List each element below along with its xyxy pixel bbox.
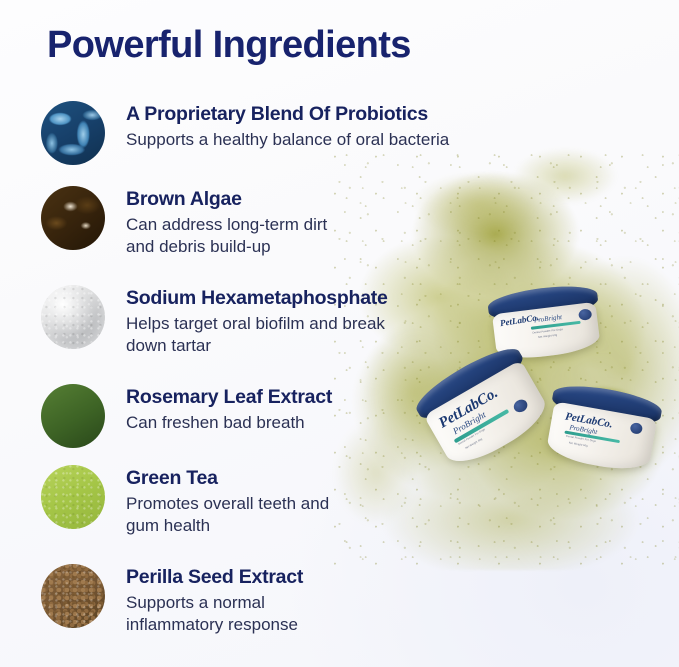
brown-algae-swatch-icon [41, 186, 105, 250]
ingredient-description: Supports a normal inflammatory response [126, 592, 303, 637]
ingredient-name: Brown Algae [126, 189, 327, 211]
ingredient-text-block: Brown Algae Can address long-term dirt a… [126, 184, 327, 259]
powerful-ingredients-poster: Powerful Ingredients A Proprietary Blend… [0, 0, 679, 667]
ingredient-text-block: Perilla Seed Extract Supports a normal i… [126, 562, 303, 637]
ingredient-text-block: Green Tea Promotes overall teeth and gum… [126, 463, 329, 538]
ingredient-text-block: A Proprietary Blend Of Probiotics Suppor… [126, 99, 449, 151]
product-jar-right: PetLabCo. ProBright Dental Powder For Do… [536, 379, 667, 486]
ingredient-name: Green Tea [126, 468, 329, 490]
ingredient-name: A Proprietary Blend Of Probiotics [126, 104, 449, 126]
ingredient-text-block: Sodium Hexametaphosphate Helps target or… [126, 283, 388, 358]
perilla-seeds-swatch-icon [41, 564, 105, 628]
page-title: Powerful Ingredients [47, 24, 411, 67]
ingredient-name: Sodium Hexametaphosphate [126, 288, 388, 310]
ingredient-name: Perilla Seed Extract [126, 567, 303, 589]
green-tea-powder-swatch-icon [41, 465, 105, 529]
ingredient-description: Promotes overall teeth and gum health [126, 493, 329, 538]
ingredient-description: Can address long-term dirt and debris bu… [126, 214, 327, 259]
ingredient-row-perilla-seed-extract: Perilla Seed Extract Supports a normal i… [41, 562, 303, 637]
ingredient-row-probiotics: A Proprietary Blend Of Probiotics Suppor… [41, 99, 449, 165]
ingredient-row-rosemary-leaf-extract: Rosemary Leaf Extract Can freshen bad br… [41, 382, 332, 448]
ingredient-row-brown-algae: Brown Algae Can address long-term dirt a… [41, 184, 327, 259]
rosemary-leaves-swatch-icon [41, 384, 105, 448]
ingredient-description: Supports a healthy balance of oral bacte… [126, 129, 449, 152]
probiotics-bacteria-swatch-icon [41, 101, 105, 165]
ingredient-row-green-tea: Green Tea Promotes overall teeth and gum… [41, 463, 329, 538]
ingredient-name: Rosemary Leaf Extract [126, 387, 332, 409]
white-powder-swatch-icon [41, 285, 105, 349]
ingredient-row-sodium-hexametaphosphate: Sodium Hexametaphosphate Helps target or… [41, 283, 388, 358]
ingredient-description: Can freshen bad breath [126, 412, 332, 435]
ingredient-description: Helps target oral biofilm and break down… [126, 313, 388, 358]
ingredient-text-block: Rosemary Leaf Extract Can freshen bad br… [126, 382, 332, 434]
